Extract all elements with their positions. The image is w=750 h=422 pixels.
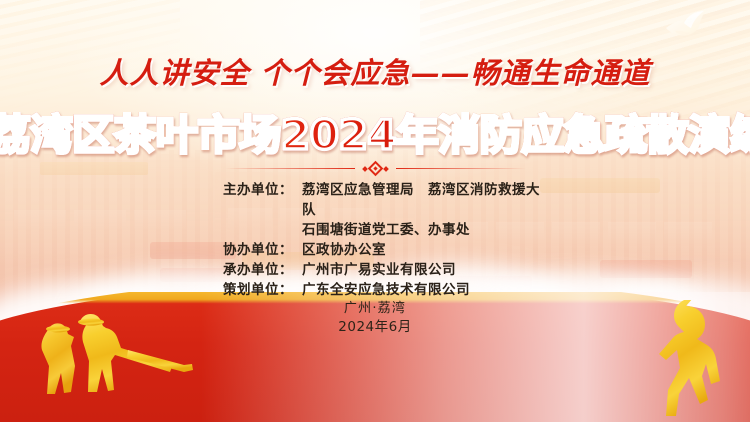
detail-label: 协办单位：: [207, 240, 293, 260]
diamond-divider-icon: [0, 163, 750, 174]
poster-main-title: 荔湾区茶叶市场2024年消防应急疏散演练: [0, 101, 750, 161]
main-title-text: 荔湾区茶叶市场2024年消防应急疏散演练: [0, 111, 750, 159]
detail-label: 承办单位：: [207, 260, 293, 280]
detail-value: 区政协办公室: [293, 240, 543, 260]
date-text: 2024年6月: [0, 318, 750, 337]
poster-slogan: 人人讲安全 个个会应急——畅通生命通道: [0, 50, 750, 92]
detail-value: 广东全安应急技术有限公司: [293, 280, 543, 300]
detail-row: 承办单位： 广州市广易实业有限公司: [0, 260, 750, 280]
detail-value: 石围塘街道党工委、办事处: [293, 220, 543, 240]
detail-label: 策划单位：: [207, 280, 293, 300]
location-text: 广州·荔湾: [0, 299, 750, 318]
organizer-details: 主办单位： 荔湾区应急管理局 荔湾区消防救援大队 石围塘街道党工委、办事处 协办…: [0, 180, 750, 300]
detail-row: 石围塘街道党工委、办事处: [0, 220, 750, 240]
dove-icon: [660, 8, 710, 42]
place-and-date: 广州·荔湾 2024年6月: [0, 299, 750, 337]
poster-canvas: 人人讲安全 个个会应急——畅通生命通道 荔湾区茶叶市场2024年消防应急疏散演练…: [0, 0, 750, 422]
detail-label: 主办单位：: [207, 180, 293, 200]
detail-row: 协办单位： 区政协办公室: [0, 240, 750, 260]
detail-value: 荔湾区应急管理局 荔湾区消防救援大队: [293, 180, 543, 220]
detail-row: 策划单位： 广东全安应急技术有限公司: [0, 280, 750, 300]
detail-value: 广州市广易实业有限公司: [293, 260, 543, 280]
detail-row: 主办单位： 荔湾区应急管理局 荔湾区消防救援大队: [0, 180, 750, 220]
